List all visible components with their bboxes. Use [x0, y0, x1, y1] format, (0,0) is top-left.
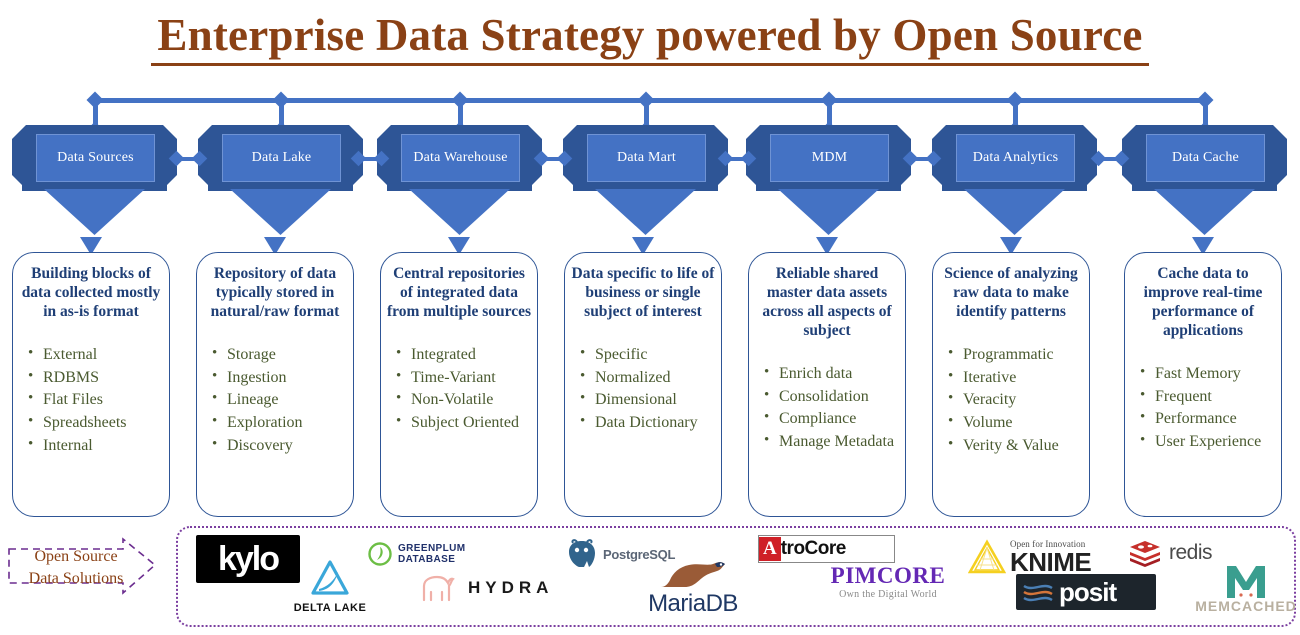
card-bullet: Internal	[28, 435, 164, 458]
card-heading: Data specific to life of business or sin…	[570, 265, 716, 322]
bus-diamond-top-4	[820, 92, 837, 109]
description-card-6: Cache data to improve real-time performa…	[1124, 252, 1282, 517]
card-bullet: Enrich data	[764, 363, 900, 386]
node-label-box: Data Lake	[222, 134, 341, 182]
description-card-3: Data specific to life of business or sin…	[564, 252, 722, 517]
card-bullet: Storage	[212, 344, 348, 367]
description-card-0: Building blocks of data collected mostly…	[12, 252, 170, 517]
node-label-box: Data Cache	[1146, 134, 1265, 182]
bus-diamond-top-3	[637, 92, 654, 109]
card-bullet: Volume	[948, 412, 1084, 435]
card-bullet: Frequent	[1140, 386, 1276, 409]
pipeline-node-data-warehouse[interactable]: Data Warehouse	[377, 125, 542, 235]
postgresql-elephant-icon	[566, 539, 598, 569]
card-bullet-list: ExternalRDBMSFlat FilesSpreadsheetsInter…	[18, 344, 164, 458]
node-label-box: MDM	[770, 134, 889, 182]
node-funnel-triangle	[1154, 189, 1255, 235]
delta-lake-logo-text: DELTA LAKE	[282, 602, 378, 614]
card-bullet: Ingestion	[212, 367, 348, 390]
card-bullet: Dimensional	[580, 389, 716, 412]
card-heading: Central repositories of integrated data …	[386, 265, 532, 322]
pipeline-node-data-mart[interactable]: Data Mart	[563, 125, 728, 235]
card-bullet: Specific	[580, 344, 716, 367]
mariadb-seal-icon	[655, 558, 731, 592]
card-bullet: Spreadsheets	[28, 412, 164, 435]
knime-triangle-icon	[968, 539, 1006, 575]
hydra-logo: HYDRA	[418, 568, 598, 608]
open-source-line-1: Open Source	[11, 546, 141, 568]
card-heading: Reliable shared master data assets acros…	[754, 265, 900, 341]
node-funnel-triangle	[230, 189, 331, 235]
card-bullet: Discovery	[212, 435, 348, 458]
atrocore-logo: A troCore	[758, 535, 895, 563]
pipeline-node-data-analytics[interactable]: Data Analytics	[932, 125, 1097, 235]
title-bar: Enterprise Data Strategy powered by Open…	[0, 0, 1300, 78]
card-bullet: Data Dictionary	[580, 412, 716, 435]
node-label: Data Mart	[617, 150, 676, 166]
card-bullet: External	[28, 344, 164, 367]
card-bullet: Exploration	[212, 412, 348, 435]
greenplum-icon	[368, 542, 392, 566]
description-card-1: Repository of data typically stored in n…	[196, 252, 354, 517]
card-heading: Cache data to improve real-time performa…	[1130, 265, 1276, 341]
node-link-arrow-5	[1093, 152, 1127, 166]
description-card-2: Central repositories of integrated data …	[380, 252, 538, 517]
card-bullet: RDBMS	[28, 367, 164, 390]
knime-logo: Open for Innovation KNIME	[968, 533, 1143, 575]
node-label: Data Analytics	[973, 150, 1059, 166]
description-card-5: Science of analyzing raw data to make id…	[932, 252, 1090, 517]
node-label-box: Data Analytics	[956, 134, 1075, 182]
card-bullet: Fast Memory	[1140, 363, 1276, 386]
description-card-row: Building blocks of data collected mostly…	[0, 252, 1300, 520]
card-bullet: Non-Volatile	[396, 389, 532, 412]
delta-lake-logo: DELTA LAKE	[282, 560, 378, 616]
node-funnel-triangle	[778, 189, 879, 235]
greenplum-logo: GREENPLUM DATABASE	[368, 537, 518, 571]
pipeline-node-row: Data SourcesData LakeData WarehouseData …	[0, 125, 1300, 235]
card-bullet: Manage Metadata	[764, 431, 900, 454]
card-bullet: Normalized	[580, 367, 716, 390]
memcached-m-icon	[1219, 562, 1273, 600]
card-bullet-list: Enrich dataConsolidationComplianceManage…	[754, 363, 900, 455]
pipeline-node-data-lake[interactable]: Data Lake	[198, 125, 363, 235]
description-card-4: Reliable shared master data assets acros…	[748, 252, 906, 517]
memcached-logo-text: MEMCACHED	[1181, 598, 1300, 614]
card-bullet-list: ProgrammaticIterativeVeracityVolumeVerit…	[938, 344, 1084, 458]
node-link-arrow-3	[720, 152, 754, 166]
page-title: Enterprise Data Strategy powered by Open…	[151, 12, 1148, 65]
node-label: Data Sources	[57, 150, 134, 166]
card-bullet: Veracity	[948, 389, 1084, 412]
greenplum-logo-subtext: DATABASE	[398, 554, 466, 566]
card-bullet: Lineage	[212, 389, 348, 412]
bus-diamond-top-0	[86, 92, 103, 109]
node-funnel-triangle	[964, 189, 1065, 235]
node-funnel-triangle	[409, 189, 510, 235]
node-link-arrow-1	[353, 152, 387, 166]
card-bullet-list: StorageIngestionLineageExplorationDiscov…	[202, 344, 348, 458]
kylo-logo-text: kylo	[218, 542, 278, 576]
atrocore-logo-mark: A	[759, 537, 781, 561]
posit-mark-icon	[1021, 578, 1055, 606]
card-bullet: Compliance	[764, 408, 900, 431]
posit-logo: posit	[1016, 574, 1156, 610]
node-label: Data Lake	[252, 150, 312, 166]
node-link-arrow-2	[536, 152, 570, 166]
card-heading: Repository of data typically stored in n…	[202, 265, 348, 322]
card-bullet: Verity & Value	[948, 435, 1084, 458]
node-funnel-triangle	[595, 189, 696, 235]
node-link-arrow-0	[171, 152, 205, 166]
card-bullet: Consolidation	[764, 386, 900, 409]
node-label-box: Data Warehouse	[401, 134, 520, 182]
card-heading: Science of analyzing raw data to make id…	[938, 265, 1084, 322]
hydra-logo-text: HYDRA	[468, 578, 553, 598]
delta-lake-icon	[310, 560, 350, 596]
hydra-icon	[418, 572, 458, 604]
card-bullet: User Experience	[1140, 431, 1276, 454]
card-bullet: Performance	[1140, 408, 1276, 431]
open-source-callout: Open Source Data Solutions	[5, 537, 175, 597]
open-source-callout-text: Open Source Data Solutions	[11, 546, 141, 589]
open-source-logo-panel: kylo DELTA LAKE GREENPLUM DATABASE HYDRA	[176, 526, 1296, 627]
card-bullet: Time-Variant	[396, 367, 532, 390]
pimcore-logo-text: PIMCORE	[788, 564, 988, 587]
memcached-logo: MEMCACHED	[1181, 562, 1300, 616]
mariadb-logo: MariaDB	[618, 558, 768, 616]
atrocore-logo-text: troCore	[781, 538, 846, 560]
redis-stack-icon	[1128, 538, 1162, 568]
card-bullet: Programmatic	[948, 344, 1084, 367]
bus-diamond-top-5	[1006, 92, 1023, 109]
open-source-line-2: Data Solutions	[11, 568, 141, 590]
pipeline-node-data-cache[interactable]: Data Cache	[1122, 125, 1287, 235]
node-label: Data Cache	[1172, 150, 1239, 166]
card-bullet: Iterative	[948, 367, 1084, 390]
pimcore-logo-tagline: Own the Digital World	[788, 589, 988, 600]
node-label-box: Data Mart	[587, 134, 706, 182]
bus-diamond-top-1	[272, 92, 289, 109]
pimcore-logo: PIMCORE Own the Digital World	[788, 564, 988, 612]
node-funnel-triangle	[44, 189, 145, 235]
node-label-box: Data Sources	[36, 134, 155, 182]
knime-logo-text: KNIME	[1010, 549, 1091, 575]
card-bullet-list: Fast MemoryFrequentPerformanceUser Exper…	[1130, 363, 1276, 455]
card-bullet-list: IntegratedTime-VariantNon-VolatileSubjec…	[386, 344, 532, 436]
posit-logo-text: posit	[1059, 579, 1116, 605]
pipeline-node-mdm[interactable]: MDM	[746, 125, 911, 235]
card-heading: Building blocks of data collected mostly…	[18, 265, 164, 322]
card-bullet: Flat Files	[28, 389, 164, 412]
card-bullet: Subject Oriented	[396, 412, 532, 435]
card-bullet: Integrated	[396, 344, 532, 367]
node-link-arrow-4	[905, 152, 939, 166]
greenplum-logo-text: GREENPLUM	[398, 543, 466, 555]
bus-diamond-top-2	[451, 92, 468, 109]
node-label: Data Warehouse	[413, 150, 507, 166]
bus-diamond-top-6	[1196, 92, 1213, 109]
pipeline-node-data-sources[interactable]: Data Sources	[12, 125, 177, 235]
card-bullet-list: SpecificNormalizedDimensionalData Dictio…	[570, 344, 716, 436]
mariadb-logo-text: MariaDB	[618, 592, 768, 616]
node-label: MDM	[812, 150, 848, 166]
